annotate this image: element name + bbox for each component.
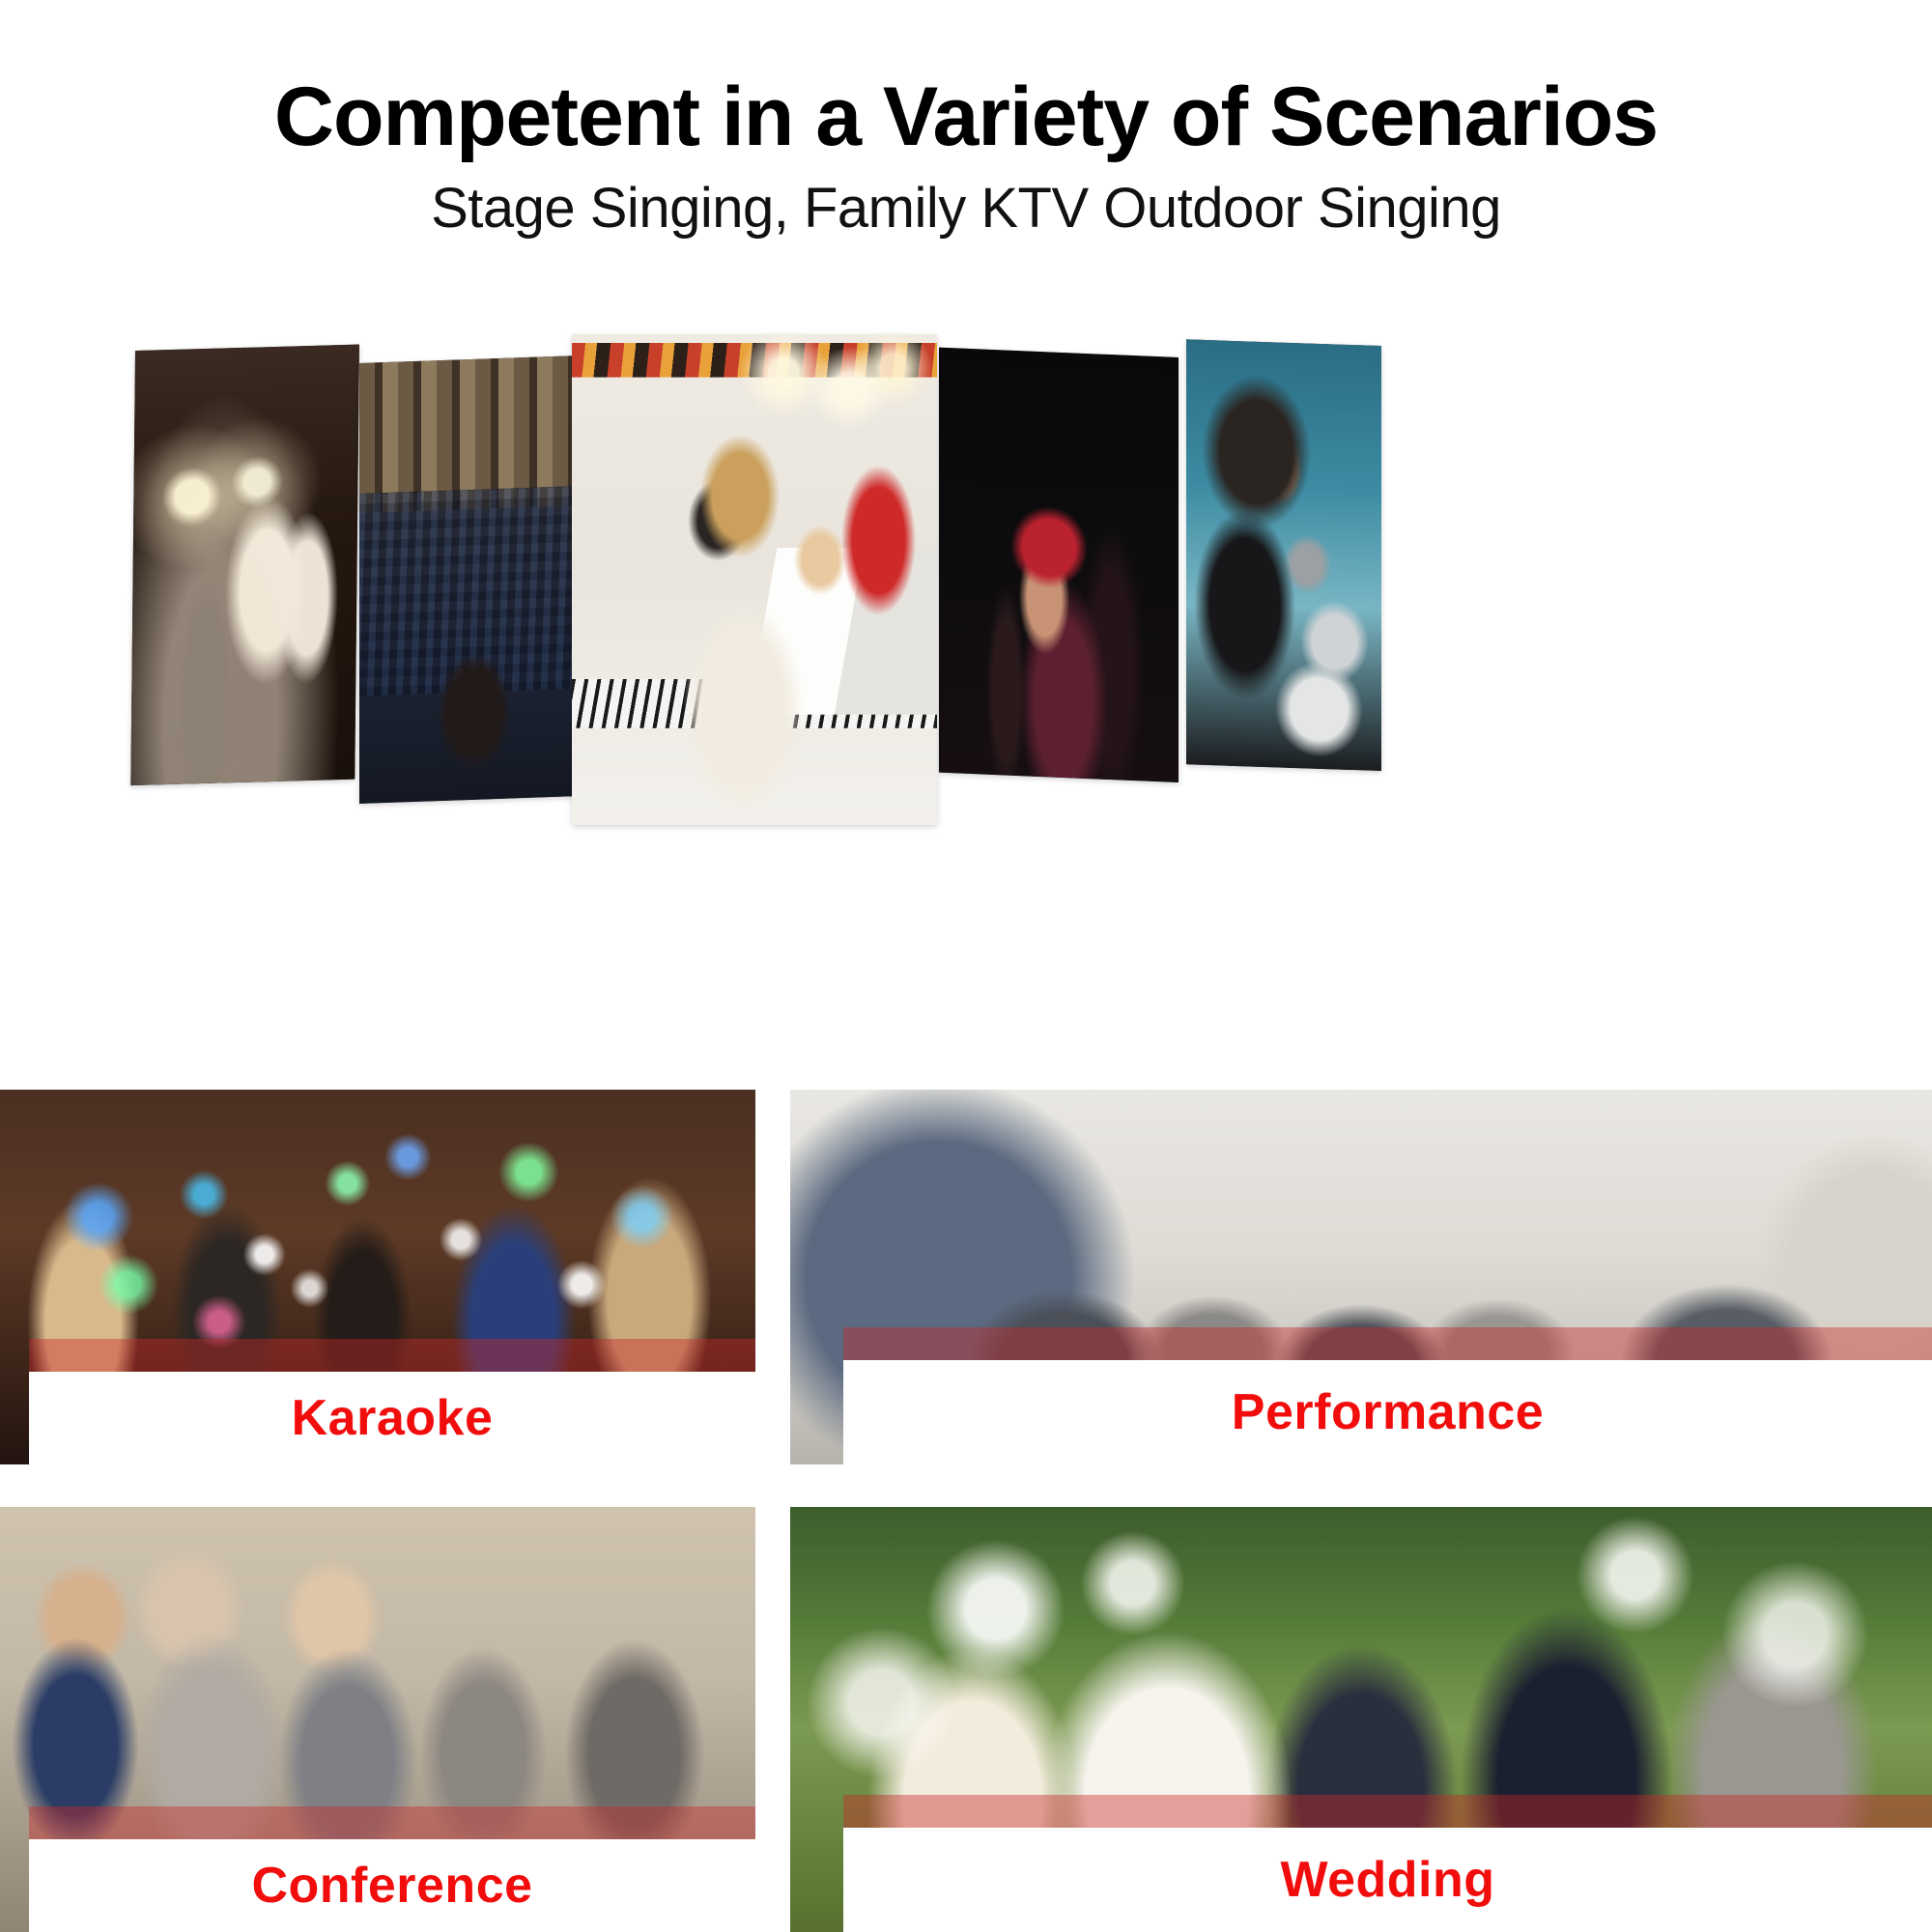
photo-drummer-playing <box>1186 339 1381 771</box>
conference-label: Conference <box>251 1861 532 1911</box>
header: Competent in a Variety of Scenarios Stag… <box>0 0 1932 239</box>
drummer-image <box>1186 339 1381 771</box>
wedding-red-stripe <box>843 1795 1932 1828</box>
vocalist-image <box>939 348 1179 782</box>
conference-label-bar: Conference <box>29 1839 755 1932</box>
wedding-label-bar: Wedding <box>843 1828 1932 1932</box>
performance-label-bar: Performance <box>843 1360 1932 1464</box>
page-subtitle: Stage Singing, Family KTV Outdoor Singin… <box>0 180 1932 239</box>
ballet-stage-image <box>130 345 359 786</box>
page-title: Competent in a Variety of Scenarios <box>0 75 1932 158</box>
karaoke-label: Karaoke <box>292 1393 494 1443</box>
photo-female-vocalist-stage <box>939 348 1179 782</box>
wedding-label: Wedding <box>1280 1855 1494 1905</box>
performance-red-stripe <box>843 1327 1932 1360</box>
photo-ballet-stage-performance <box>130 345 359 786</box>
performance-label: Performance <box>1232 1387 1544 1437</box>
scenario-card-performance: Performance <box>790 1090 1932 1464</box>
photo-child-playing-piano <box>572 334 937 825</box>
scenario-card-conference: Conference <box>0 1507 755 1932</box>
karaoke-red-stripe <box>29 1339 755 1372</box>
photo-auditorium-singer <box>359 355 580 804</box>
auditorium-image <box>359 355 580 804</box>
scenario-card-karaoke: Karaoke <box>0 1090 755 1464</box>
karaoke-label-bar: Karaoke <box>29 1372 755 1464</box>
scenario-grid: Karaoke Performance Conference Wedding <box>0 1090 1932 1932</box>
photo-strip <box>0 319 1932 821</box>
child-piano-image <box>572 334 937 825</box>
scenario-card-wedding: Wedding <box>790 1507 1932 1932</box>
conference-red-stripe <box>29 1806 755 1839</box>
